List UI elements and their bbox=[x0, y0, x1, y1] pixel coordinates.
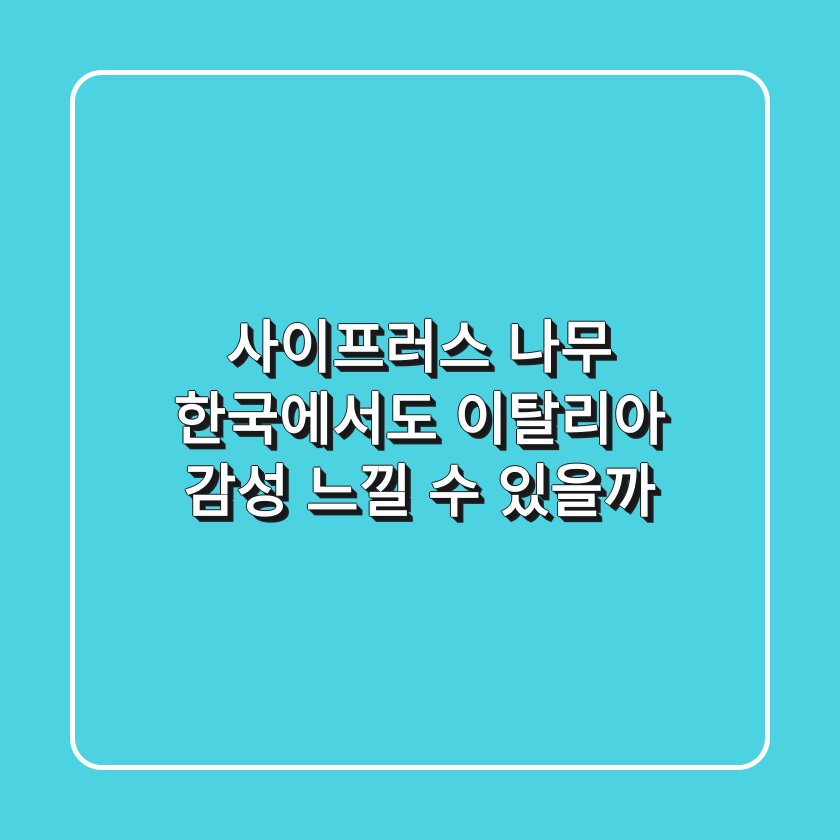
headline-block: 사이프러스 나무 한국에서도 이탈리아 감성 느낄 수 있을까 bbox=[70, 70, 770, 770]
title-card: 사이프러스 나무 한국에서도 이탈리아 감성 느낄 수 있을까 bbox=[0, 0, 840, 840]
headline-line-3: 감성 느낄 수 있을까 bbox=[88, 456, 752, 528]
headline-line-2: 한국에서도 이탈리아 bbox=[88, 384, 752, 456]
headline-line-1: 사이프러스 나무 bbox=[88, 312, 752, 384]
